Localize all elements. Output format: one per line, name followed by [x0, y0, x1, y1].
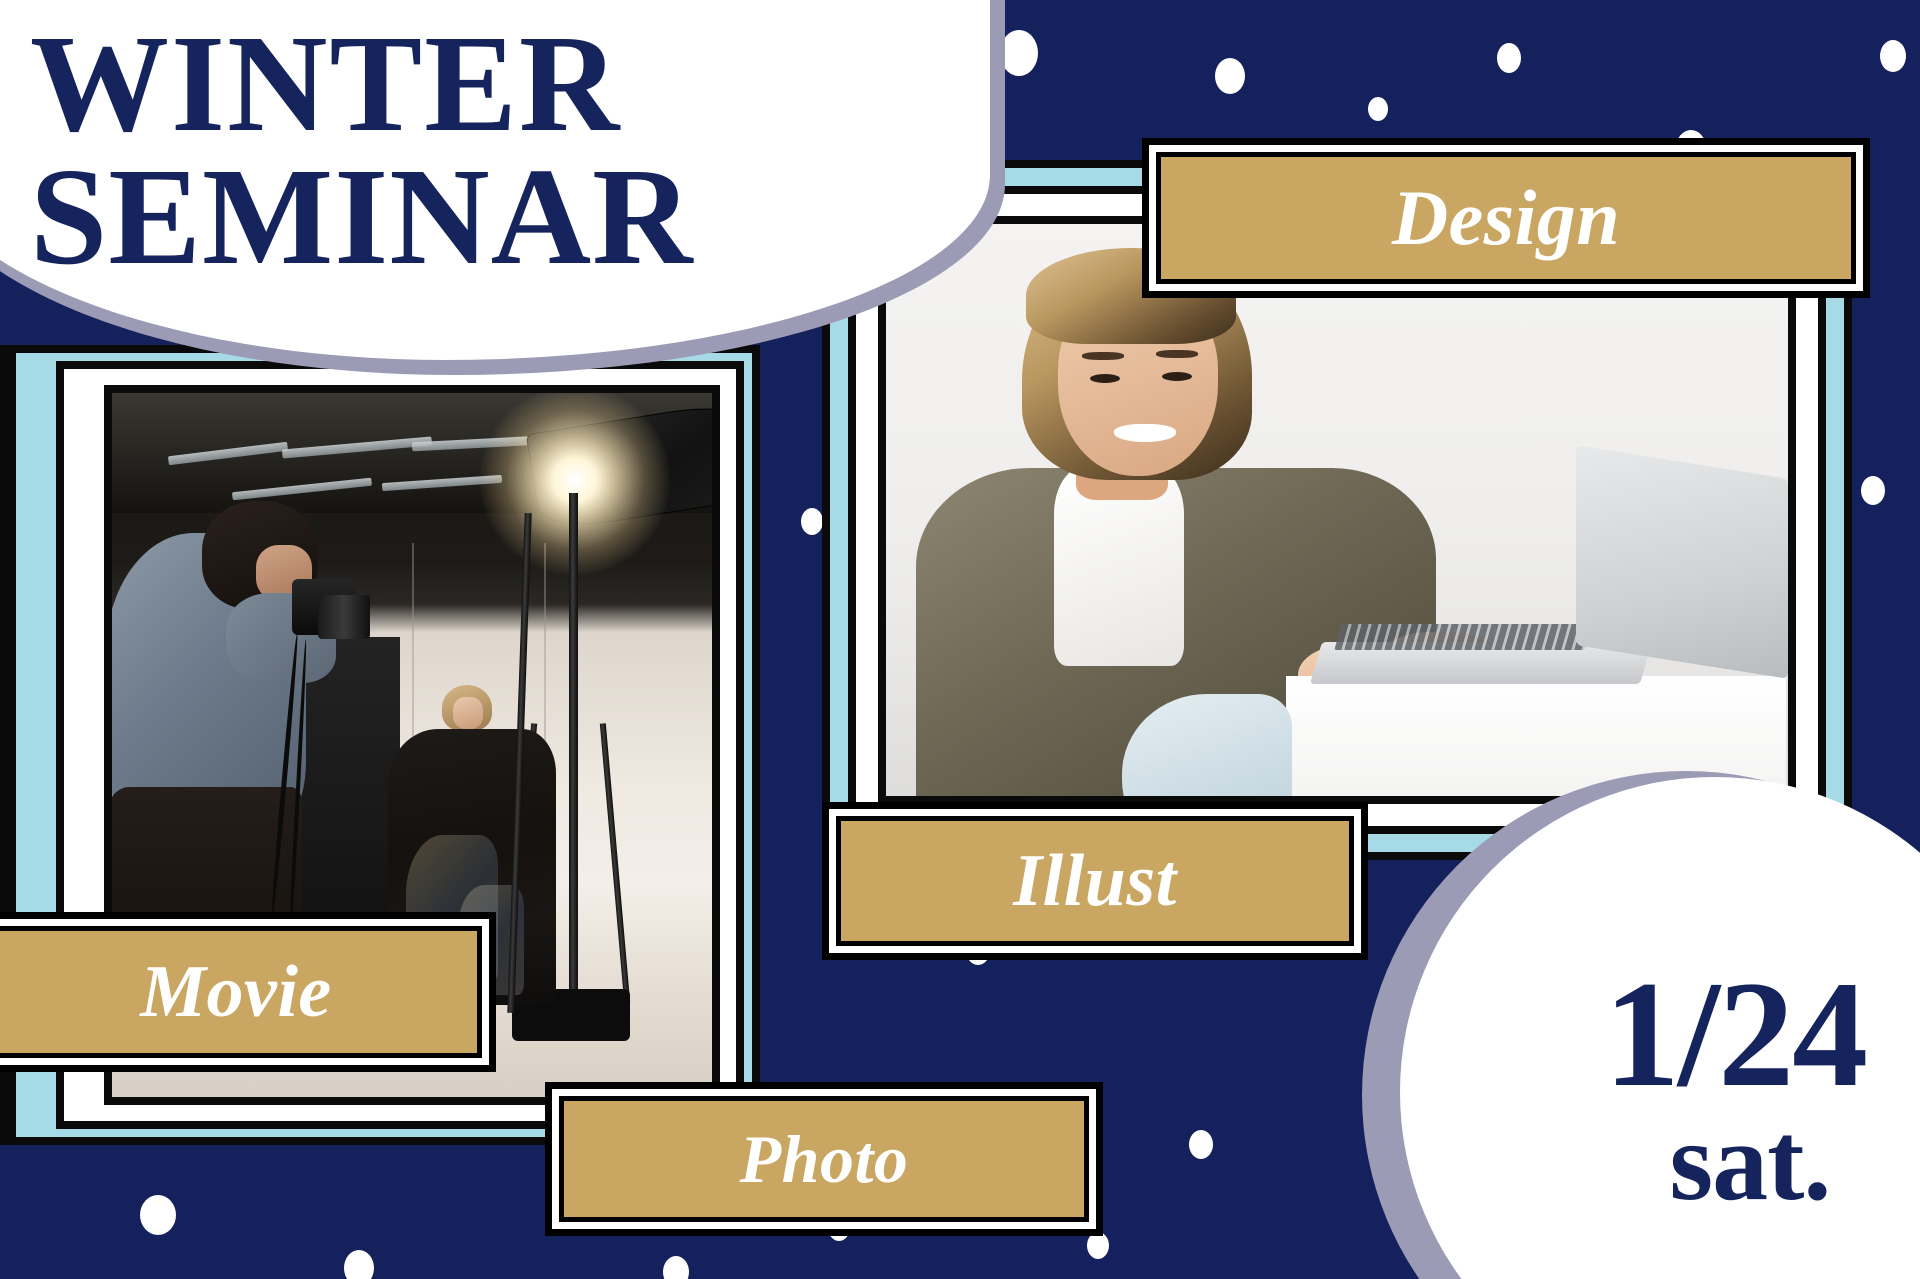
badge-gold-plate: Design	[1161, 157, 1851, 279]
apple-logo-icon: 	[1658, 520, 1684, 554]
event-date: 1/24	[1604, 966, 1866, 1103]
badge-design[interactable]: Design	[1142, 138, 1870, 298]
background-dot	[1497, 43, 1521, 73]
background-dot	[1215, 58, 1245, 94]
badge-black-layer: Design	[1156, 152, 1856, 284]
student-eyebrow	[1156, 350, 1198, 358]
badge-gold-plate: Photo	[564, 1101, 1084, 1217]
background-dot	[801, 508, 823, 535]
badge-label: Illust	[1013, 844, 1176, 918]
student-smile	[1114, 424, 1176, 442]
badge-gold-plate: Illust	[841, 821, 1349, 941]
badge-white-layer: Illust	[829, 809, 1361, 953]
badge-white-layer: Design	[1149, 145, 1863, 291]
badge-illust[interactable]: Illust	[822, 802, 1368, 960]
title-line-1: WINTER	[30, 18, 910, 151]
badge-label: Design	[1392, 179, 1620, 257]
background-dot	[1880, 40, 1906, 72]
badge-movie[interactable]: Movie	[0, 912, 496, 1072]
badge-black-layer: Illust	[836, 816, 1354, 946]
student-eye	[1090, 374, 1120, 383]
photo-laptop-student: 	[886, 224, 1788, 796]
badge-label: Photo	[740, 1125, 909, 1193]
badge-white-layer: Movie	[0, 919, 489, 1065]
student-eye	[1162, 372, 1192, 381]
background-dot	[140, 1195, 176, 1235]
model-face	[453, 697, 483, 729]
title-line-2: SEMINAR	[30, 151, 910, 284]
background-dot	[1189, 1130, 1213, 1159]
page-title: WINTER SEMINAR	[30, 18, 910, 285]
badge-photo[interactable]: Photo	[545, 1082, 1103, 1236]
poster-canvas:  Design Illust Mov	[0, 0, 1920, 1279]
background-dot	[1368, 97, 1388, 121]
background-dot	[1861, 476, 1885, 505]
badge-black-layer: Movie	[0, 926, 482, 1058]
badge-gold-plate: Movie	[0, 931, 477, 1053]
background-dot	[663, 1256, 689, 1279]
background-dot	[1000, 30, 1038, 76]
laptop-screen-back	[1576, 445, 1788, 679]
camera-lens	[318, 595, 370, 639]
laptop-keyboard	[1334, 624, 1591, 650]
badge-black-layer: Photo	[559, 1096, 1089, 1222]
badge-label: Movie	[140, 955, 332, 1029]
event-weekday: sat.	[1670, 1106, 1831, 1218]
student-eyebrow	[1082, 352, 1124, 360]
background-dot	[1087, 1232, 1109, 1259]
badge-white-layer: Photo	[552, 1089, 1096, 1229]
background-dot	[344, 1250, 374, 1279]
